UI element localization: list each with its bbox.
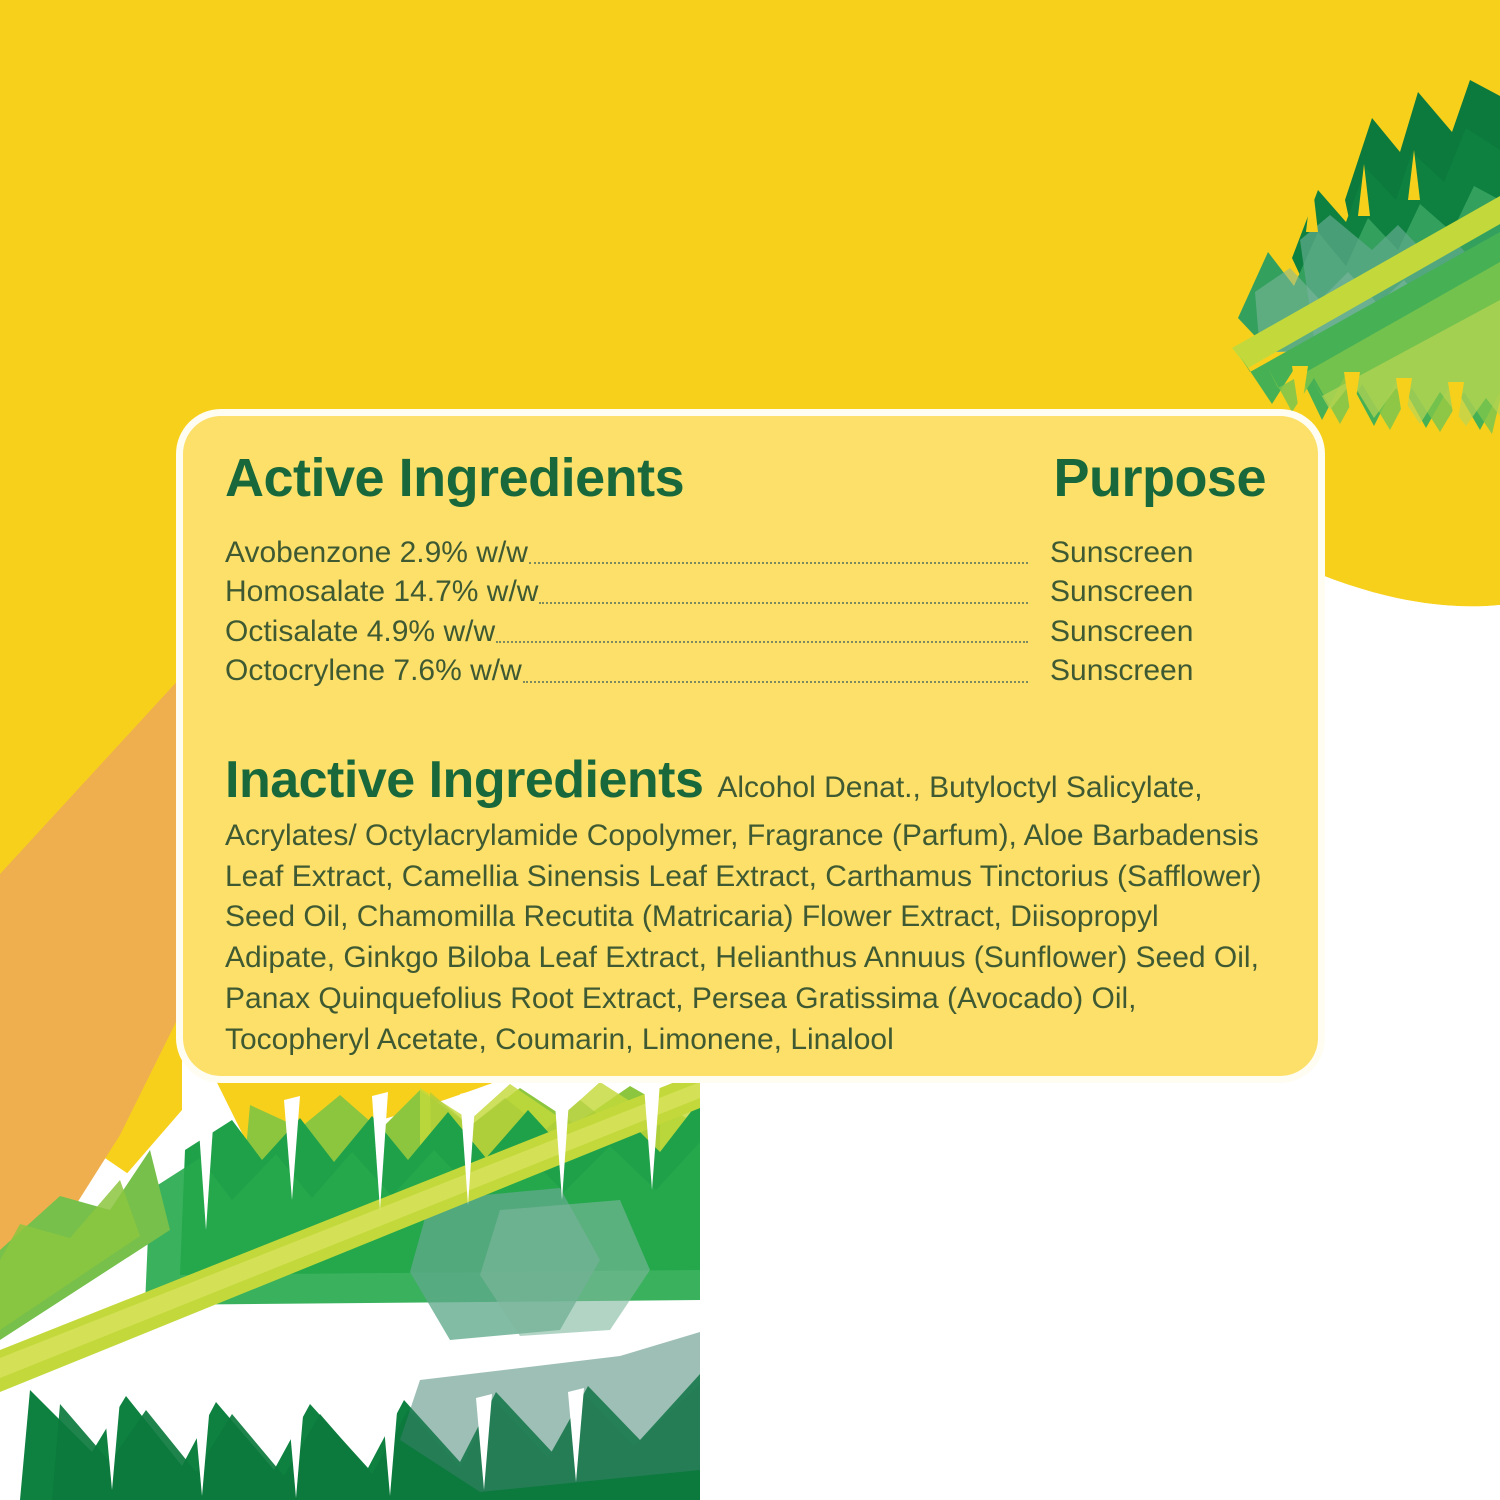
product-label-panel: Active Ingredients Purpose Avobenzone 2.… xyxy=(0,0,1500,1500)
purpose-heading: Purpose xyxy=(1053,450,1266,507)
active-ingredients-heading: Active Ingredients xyxy=(225,450,684,507)
ingredients-card: Active Ingredients Purpose Avobenzone 2.… xyxy=(183,416,1318,1076)
table-header-row: Active Ingredients Purpose xyxy=(225,450,1272,507)
table-row: Homosalate 14.7% w/w Sunscreen xyxy=(225,572,1272,612)
ingredient-name: Avobenzone 2.9% w/w xyxy=(225,533,528,573)
dotted-leader xyxy=(539,601,1028,604)
active-ingredients-list: Avobenzone 2.9% w/w Sunscreen Homosalate… xyxy=(225,533,1272,691)
ingredient-purpose: Sunscreen xyxy=(1030,572,1272,612)
table-row: Octisalate 4.9% w/w Sunscreen xyxy=(225,612,1272,652)
ingredient-name: Octisalate 4.9% w/w xyxy=(225,612,495,652)
inactive-ingredients-heading: Inactive Ingredients xyxy=(225,751,703,809)
ingredient-name: Octocrylene 7.6% w/w xyxy=(225,651,522,691)
table-row: Octocrylene 7.6% w/w Sunscreen xyxy=(225,651,1272,691)
ingredient-name: Homosalate 14.7% w/w xyxy=(225,572,538,612)
ingredient-purpose: Sunscreen xyxy=(1030,533,1272,573)
ingredient-purpose: Sunscreen xyxy=(1030,651,1272,691)
dotted-leader xyxy=(529,561,1028,564)
dotted-leader xyxy=(523,680,1028,683)
dotted-leader xyxy=(496,640,1028,643)
inactive-ingredients-block: Inactive IngredientsAlcohol Denat., Buty… xyxy=(225,745,1272,1061)
table-row: Avobenzone 2.9% w/w Sunscreen xyxy=(225,533,1272,573)
inactive-ingredients-text: Alcohol Denat., Butyloctyl Salicylate, A… xyxy=(225,771,1262,1056)
ingredient-purpose: Sunscreen xyxy=(1030,612,1272,652)
